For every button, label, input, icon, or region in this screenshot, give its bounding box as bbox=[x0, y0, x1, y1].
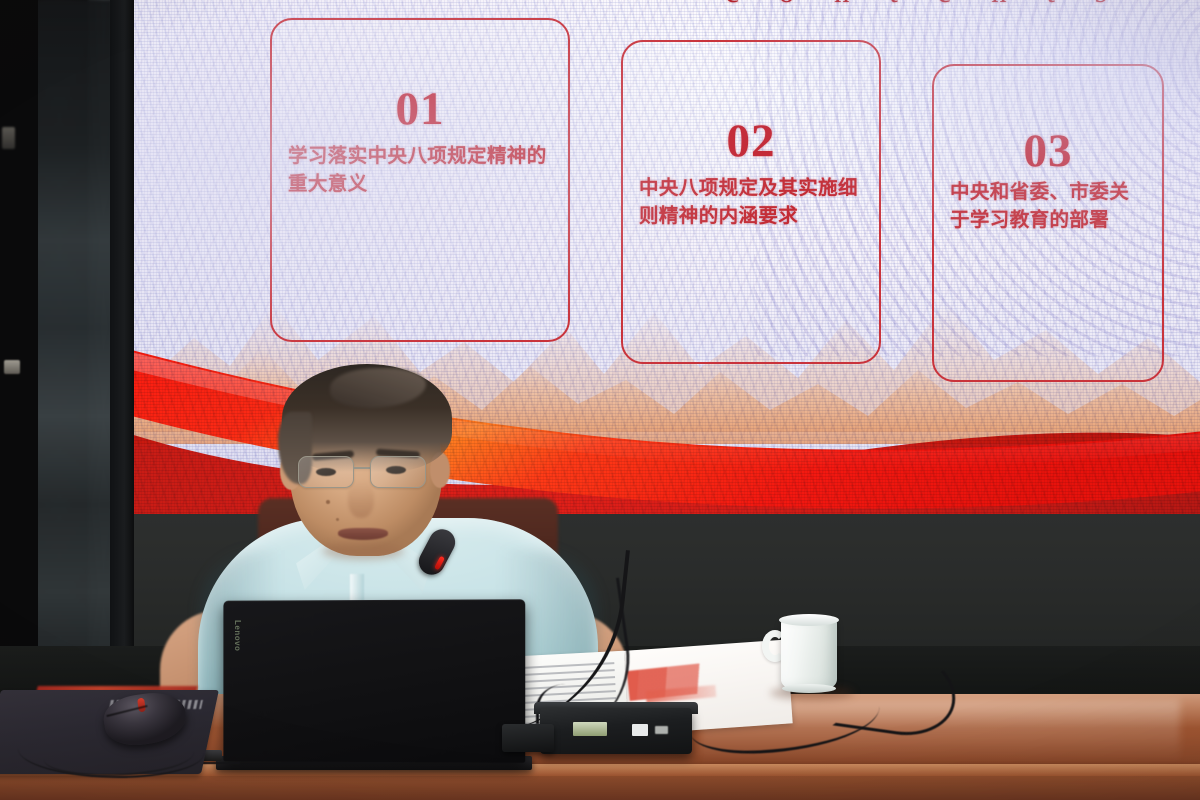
laptop-lid[interactable] bbox=[223, 599, 525, 762]
slide-title: c o n t e n t s bbox=[694, 0, 1154, 10]
door-handle-upper bbox=[2, 127, 15, 149]
speaker-cheek-mark-lower bbox=[336, 518, 339, 521]
card-number-02: 02 bbox=[623, 114, 879, 168]
microphone-label-small bbox=[655, 726, 668, 734]
microphone-base-unit[interactable] bbox=[540, 708, 692, 754]
card-text-01: 学习落实中央八项规定精神的重大意义 bbox=[288, 142, 554, 197]
ceramic-mug bbox=[781, 618, 837, 688]
content-card-01: 01 学习落实中央八项规定精神的重大意义 bbox=[270, 18, 570, 342]
eyeglass-bridge bbox=[354, 467, 370, 469]
door-handle bbox=[4, 360, 20, 374]
card-number-01: 01 bbox=[272, 82, 568, 136]
desk-front-panel bbox=[0, 776, 1200, 800]
eyeglass-lens-left bbox=[298, 456, 354, 488]
card-number-03: 03 bbox=[934, 124, 1162, 178]
content-card-02: 02 中央八项规定及其实施细则精神的内涵要求 bbox=[621, 40, 881, 364]
lenovo-brand-logo: Lenovo bbox=[228, 620, 242, 662]
speaker-mouth bbox=[338, 528, 388, 540]
screenshot-root: c o n t e n t s 01 学习落实中央八项规定精神的重大意义 02 … bbox=[0, 0, 1200, 800]
microphone-label-badge bbox=[632, 724, 648, 736]
card-text-02: 中央八项规定及其实施细则精神的内涵要求 bbox=[639, 174, 865, 229]
content-card-03: 03 中央和省委、市委关于学习教育的部署 bbox=[932, 64, 1164, 382]
speaker-chin-shadow bbox=[322, 542, 404, 560]
speaker-nose bbox=[348, 480, 374, 518]
speaker-cheek-mark bbox=[326, 500, 330, 504]
microphone-label-sticker bbox=[573, 722, 607, 736]
card-text-03: 中央和省委、市委关于学习教育的部署 bbox=[950, 178, 1148, 233]
mug-rim bbox=[779, 614, 839, 626]
eyeglass-lens-right bbox=[370, 456, 426, 488]
power-adapter-brick bbox=[502, 724, 554, 752]
